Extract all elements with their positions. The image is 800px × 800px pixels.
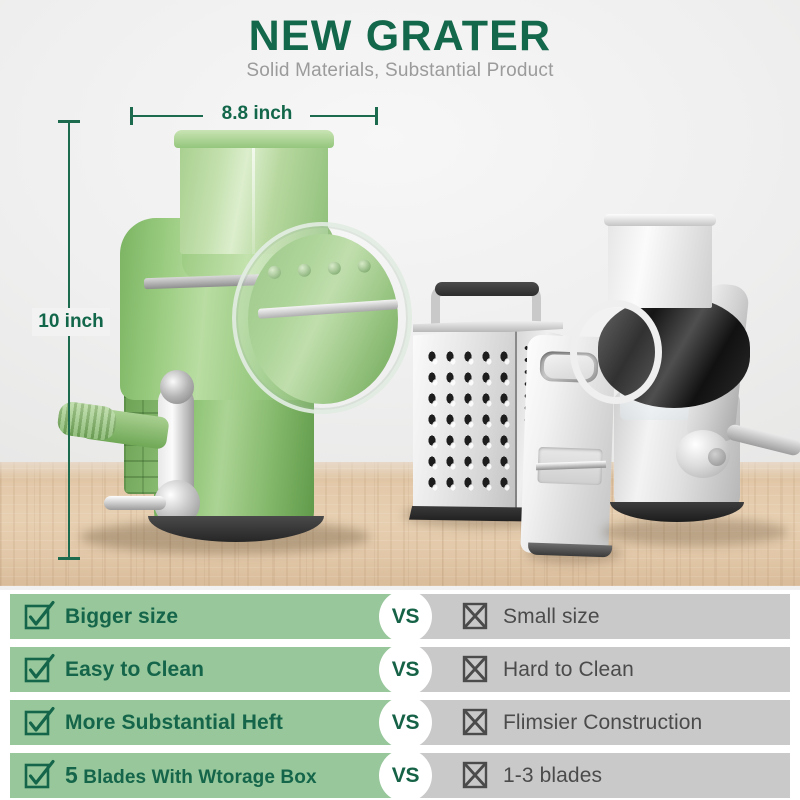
checkbox-cross-icon (464, 710, 490, 736)
box-grater-coarse-holes (423, 346, 509, 498)
silver-rotary-grater (576, 212, 800, 560)
checkbox-check-icon (26, 604, 52, 630)
comparison-con-cell: 1-3 blades (414, 753, 790, 798)
comparison-con-cell: Small size (414, 594, 790, 639)
comparison-pro-cell: 5 Blades With Wtorage Box (10, 753, 408, 798)
checkbox-cross-icon (464, 763, 490, 789)
silver-grater-shadow (602, 518, 788, 546)
silver-grater-hopper-lip (604, 214, 716, 226)
vs-label: VS (392, 764, 419, 788)
green-grater-hopper-lip (174, 130, 334, 148)
silver-grater-hopper (608, 218, 712, 308)
comparison-pro-cell: More Substantial Heft (10, 700, 408, 745)
vs-badge: VS (379, 643, 432, 696)
checkbox-check-icon (26, 710, 52, 736)
checkbox-check-icon (26, 763, 52, 789)
comparison-pro-label: More Substantial Heft (65, 711, 283, 735)
vs-badge: VS (379, 590, 432, 643)
comparison-pro-label: Easy to Clean (65, 658, 204, 682)
page-title: NEW GRATER (0, 12, 800, 61)
vs-label: VS (392, 605, 419, 629)
green-grater-crank-grip (56, 400, 118, 442)
height-dimension-cap-bottom (58, 557, 80, 560)
comparison-con-label: 1-3 blades (503, 764, 602, 788)
silver-grater-drum-ring (570, 300, 662, 404)
vs-badge: VS (379, 749, 432, 800)
height-dimension-line (68, 120, 70, 560)
checkbox-cross-icon (464, 604, 490, 630)
page-subtitle: Solid Materials, Substantial Product (0, 60, 800, 82)
comparison-pro-label: 5 Blades With Wtorage Box (65, 762, 317, 789)
height-dimension-label: 10 inch (32, 308, 110, 336)
comparison-row: Easy to Clean Hard to Clean VS (0, 647, 800, 692)
width-dimension-line-right (310, 115, 378, 117)
comparison-pro-cell: Easy to Clean (10, 647, 408, 692)
green-grater-hopper-seam (252, 136, 255, 254)
comparison-con-cell: Hard to Clean (414, 647, 790, 692)
comparison-pro-cell: Bigger size (10, 594, 408, 639)
checkbox-check-icon (26, 657, 52, 683)
width-dimension-cap-right (375, 107, 378, 125)
comparison-con-label: Small size (503, 605, 600, 629)
width-dimension-cap-left (130, 107, 133, 125)
green-grater-suction-lever (104, 496, 166, 510)
checkbox-cross-icon (464, 657, 490, 683)
vs-label: VS (392, 711, 419, 735)
comparison-con-label: Flimsier Construction (503, 711, 702, 735)
blade-count: 5 (65, 762, 78, 788)
silver-grater-knob-center (708, 448, 726, 466)
width-dimension-label: 8.8 inch (203, 103, 311, 125)
green-grater-drum-ring (232, 222, 412, 414)
blade-description: Blades With Wtorage Box (83, 767, 316, 788)
comparison-row: Bigger size Small size VS (0, 594, 800, 639)
vs-label: VS (392, 658, 419, 682)
green-rotary-grater (62, 128, 392, 560)
vs-badge: VS (379, 696, 432, 749)
comparison-row: 5 Blades With Wtorage Box 1-3 blades VS (0, 753, 800, 798)
comparison-con-cell: Flimsier Construction (414, 700, 790, 745)
height-dimension-cap-top (58, 120, 80, 123)
width-dimension-line-left (131, 115, 203, 117)
comparison-row: More Substantial Heft Flimsier Construct… (0, 700, 800, 745)
green-grater-suction-top (160, 370, 194, 404)
box-grater-corner-seam (515, 326, 517, 514)
infographic-canvas: 10 inch 8.8 inch NEW GRATER Solid Materi… (0, 0, 800, 800)
comparison-con-label: Hard to Clean (503, 658, 634, 682)
comparison-pro-label: Bigger size (65, 605, 178, 629)
box-grater-handle-grip (435, 282, 539, 296)
comparison-table: Bigger size Small size VS (0, 590, 800, 800)
product-photo-scene: 10 inch 8.8 inch NEW GRATER Solid Materi… (0, 0, 800, 586)
